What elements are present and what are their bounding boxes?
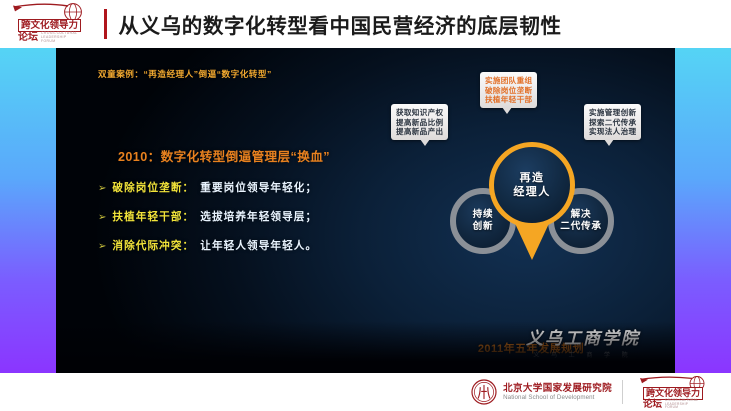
pku-name-en: National School of Development [503,394,612,402]
callout-bubble-left: 获取知识产权 提高新品比例 提高新品产出 [391,104,448,140]
list-item: ➢ 扶植年轻干部： 选拔培养年轻领导层； [98,209,428,224]
footer-brand-box-text: 跨文化领导力 [646,388,700,399]
center-line2: 经理人 [513,185,550,199]
bullet-key: 破除岗位垄断： [112,180,194,195]
center-line1: 再造 [520,171,545,185]
school-logo: 义乌工商学院 义 乌 工 商 学 院 [508,324,658,359]
pku-text: 北京大学国家发展研究院 National School of Developme… [503,383,612,402]
callout-right-line1: 实施管理创新 [589,108,636,118]
brand-sub-cn: 论坛 [18,32,38,43]
pku-brand: 北京大学国家发展研究院 National School of Developme… [471,379,612,405]
footer-brand-sub-en: CROSS-CULTURAL LEADERSHIP FORUM [665,399,698,410]
slide-screenshot: 跨文化领导力 论坛 CROSS-CULTURAL LEADERSHIP FORU… [0,0,731,411]
bullet-key: 扶植年轻干部： [112,209,194,224]
bullet-value: 让年轻人领导年轻人。 [200,238,317,253]
page-title: 从义乌的数字化转型看中国民营经济的底层韧性 [119,9,562,39]
callout-right-line3: 实现法人治理 [589,127,636,137]
pin-diagram: 实施团队重组 破除岗位垄断 扶植年轻干部 获取知识产权 提高新品比例 提高新品产… [396,70,666,340]
arrow-bullet-icon: ➢ [98,184,106,194]
brand-subtitle: 论坛 CROSS-CULTURAL LEADERSHIP FORUM [18,32,77,43]
school-logo-cn: 义乌工商学院 [508,324,658,349]
footer-brand-subtitle: 论坛 CROSS-CULTURAL LEADERSHIP FORUM [643,399,698,410]
callout-left-line3: 提高新品产出 [396,127,443,137]
callout-left-line2: 提高新品比例 [396,118,443,128]
bubble-tail [604,139,614,146]
bullet-value: 选拔培养年轻领导层； [200,209,317,224]
plan-label: 2011年五年发展规划 [396,340,666,356]
bubble-tail [420,139,430,146]
callout-top-line2: 破除岗位垄断 [485,86,532,96]
footer-brand-sub-en-3: FORUM [665,406,698,410]
arrow-bullet-icon: ➢ [98,213,106,223]
brand-sub-en-3: FORUM [41,40,77,44]
brand-sub-en: CROSS-CULTURAL LEADERSHIP FORUM [41,32,77,43]
list-item: ➢ 破除岗位垄断： 重要岗位领导年轻化； [98,180,428,195]
page-footer: 北京大学国家发展研究院 National School of Developme… [0,373,731,411]
callout-top-line1: 实施团队重组 [485,76,532,86]
pku-seal-icon [471,379,497,405]
video-frame: 双童案例：“再造经理人”倒逼“数字化转型” 2010：数字化转型倒逼管理层“换血… [0,48,731,373]
bullet-key: 消除代际冲突： [112,238,194,253]
slide-canvas: 双童案例：“再造经理人”倒逼“数字化转型” 2010：数字化转型倒逼管理层“换血… [56,48,675,373]
footer-brand-sub-cn: 论坛 [643,400,662,410]
pin-head-center: 再造 经理人 [489,142,575,228]
map-pin-shape: 再造 经理人 [489,142,575,260]
footer-brand-logo: 跨文化领导力 论坛 CROSS-CULTURAL LEADERSHIP FORU… [633,376,719,408]
callout-bubble-top: 实施团队重组 破除岗位垄断 扶植年轻干部 [480,72,537,108]
list-item: ➢ 消除代际冲突： 让年轻人领导年轻人。 [98,238,428,253]
pku-name-cn: 北京大学国家发展研究院 [503,383,612,394]
callout-right-line2: 探索二代传承 [589,118,636,128]
case-heading: 双童案例：“再造经理人”倒逼“数字化转型” [98,68,272,80]
callout-top-line3: 扶植年轻干部 [485,95,532,105]
year-heading: 2010：数字化转型倒逼管理层“换血” [118,146,330,165]
callout-left-line1: 获取知识产权 [396,108,443,118]
brand-box-text: 跨文化领导力 [21,20,78,31]
arrow-bullet-icon: ➢ [98,242,106,252]
footer-divider [622,380,623,404]
header-divider [104,9,107,39]
bubble-tail [502,107,512,114]
header-brand-logo: 跨文化领导力 论坛 CROSS-CULTURAL LEADERSHIP FORU… [6,2,98,46]
bullet-list: ➢ 破除岗位垄断： 重要岗位领导年轻化； ➢ 扶植年轻干部： 选拔培养年轻领导层… [98,180,428,267]
callout-bubble-right: 实施管理创新 探索二代传承 实现法人治理 [584,104,641,140]
bullet-value: 重要岗位领导年轻化； [200,180,317,195]
school-logo-en: 义 乌 工 商 学 院 [508,350,658,359]
page-header: 跨文化领导力 论坛 CROSS-CULTURAL LEADERSHIP FORU… [0,0,731,48]
